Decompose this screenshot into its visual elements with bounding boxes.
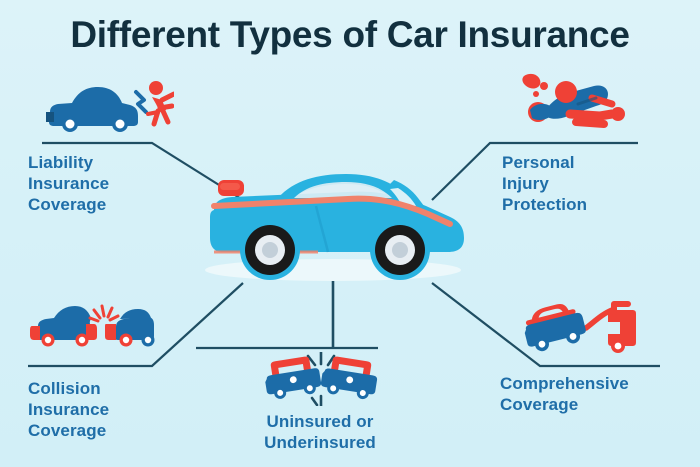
label-line: Coverage [500,394,690,415]
label-line: Insurance [28,173,198,194]
label-line: Insurance [28,399,208,420]
label-line: Coverage [28,194,198,215]
car-hitting-pedestrian-icon [44,78,174,138]
blue-convertible-car-illustration [198,166,468,282]
label-line: Personal [502,152,682,173]
label-line: Coverage [28,420,208,441]
label-line: Protection [502,194,682,215]
two-cars-colliding-icon [28,300,158,354]
label-line: Liability [28,152,198,173]
label-liability-insurance-coverage: Liability Insurance Coverage [28,152,198,215]
injured-person-fallen-icon [508,70,638,138]
label-line: Uninsured or [222,411,418,432]
label-uninsured-or-underinsured: Uninsured or Underinsured [222,411,418,453]
car-insurance-infographic: Different Types of Car Insurance [0,0,700,467]
label-line: Collision [28,378,208,399]
two-cars-head-on-crash-icon [262,352,380,406]
label-collision-insurance-coverage: Collision Insurance Coverage [28,378,208,441]
label-comprehensive-coverage: Comprehensive Coverage [500,373,690,415]
label-line: Underinsured [222,432,418,453]
label-personal-injury-protection: Personal Injury Protection [502,152,682,215]
label-line: Injury [502,173,682,194]
tow-truck-towing-car-icon [520,300,640,356]
label-line: Comprehensive [500,373,690,394]
